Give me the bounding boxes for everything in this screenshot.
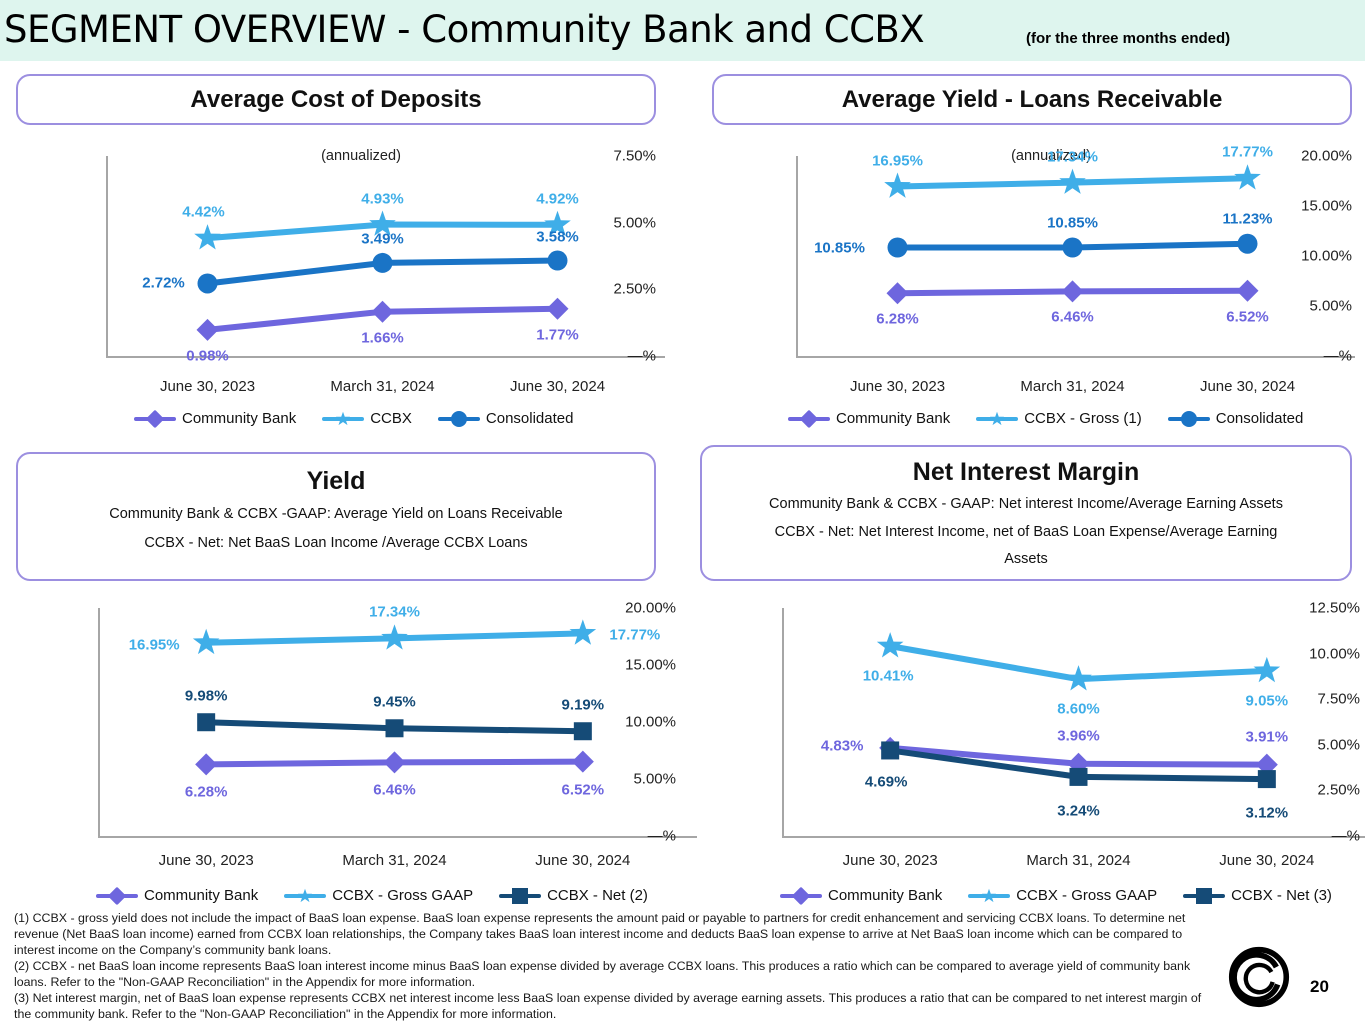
data-label: 16.95% bbox=[872, 152, 923, 169]
legend-marker bbox=[499, 888, 541, 904]
page-number: 20 bbox=[1310, 977, 1329, 997]
series-layer bbox=[16, 590, 676, 910]
legend-marker bbox=[788, 411, 830, 427]
star-icon bbox=[981, 888, 997, 904]
legend-label: Consolidated bbox=[1216, 410, 1304, 427]
card-title: Average Cost of Deposits bbox=[18, 76, 654, 123]
square-icon bbox=[1196, 888, 1212, 904]
legend-marker bbox=[1183, 888, 1225, 904]
footnotes: (1) CCBX - gross yield does not include … bbox=[14, 910, 1214, 1022]
legend-label: Community Bank bbox=[828, 887, 942, 904]
legend-label: Community Bank bbox=[182, 410, 296, 427]
legend-label: Community Bank bbox=[836, 410, 950, 427]
data-label: 1.66% bbox=[361, 329, 404, 346]
data-label: 10.85% bbox=[814, 239, 865, 256]
diamond-icon bbox=[108, 886, 127, 905]
company-logo-icon bbox=[1228, 946, 1290, 1008]
legend-label: Consolidated bbox=[486, 410, 574, 427]
legend-item[interactable]: CCBX - Gross GAAP bbox=[284, 887, 473, 904]
legend-item[interactable]: CCBX - Gross GAAP bbox=[968, 887, 1157, 904]
diamond-icon bbox=[146, 409, 165, 428]
star-icon bbox=[297, 888, 313, 904]
data-label: 16.95% bbox=[129, 636, 180, 653]
legend-item[interactable]: Community Bank bbox=[96, 887, 258, 904]
page-title: SEGMENT OVERVIEW - Community Bank and CC… bbox=[4, 8, 924, 51]
footnote-2: (2) CCBX - net BaaS loan income represen… bbox=[14, 958, 1214, 990]
card-average-yield-loans: Average Yield - Loans Receivable bbox=[712, 74, 1352, 125]
data-label: 4.92% bbox=[536, 190, 579, 207]
legend-item[interactable]: CCBX - Net (2) bbox=[499, 887, 648, 904]
series-layer bbox=[700, 590, 1360, 910]
legend-label: CCBX - Net (2) bbox=[547, 887, 648, 904]
legend-marker bbox=[322, 411, 364, 427]
card-average-cost-of-deposits: Average Cost of Deposits bbox=[16, 74, 656, 125]
card-subtitle-line1: Community Bank & CCBX -GAAP: Average Yie… bbox=[18, 504, 654, 525]
chart-legend: Community Bank CCBX Consolidated bbox=[134, 410, 573, 427]
data-label: 1.77% bbox=[536, 326, 579, 343]
square-icon bbox=[512, 888, 528, 904]
star-icon bbox=[335, 411, 351, 427]
card-title: Net Interest Margin bbox=[702, 458, 1350, 487]
chart-average-yield-loans-receivable: 20.00%15.00%10.00%5.00%—%(annualized)Jun… bbox=[706, 134, 1352, 434]
slide-header: SEGMENT OVERVIEW - Community Bank and CC… bbox=[0, 0, 1365, 61]
legend-marker bbox=[96, 888, 138, 904]
data-label: 2.72% bbox=[142, 275, 185, 292]
data-label: 9.98% bbox=[185, 688, 228, 705]
data-label: 4.69% bbox=[865, 774, 908, 791]
diamond-icon bbox=[800, 409, 819, 428]
data-label: 4.93% bbox=[361, 190, 404, 207]
data-label: 9.05% bbox=[1246, 692, 1289, 709]
data-label: 17.34% bbox=[1047, 148, 1098, 165]
legend-marker bbox=[968, 888, 1010, 904]
data-label: 6.28% bbox=[876, 311, 919, 328]
card-yield: Yield Community Bank & CCBX -GAAP: Avera… bbox=[16, 452, 656, 581]
data-label: 3.24% bbox=[1057, 802, 1100, 819]
card-net-interest-margin: Net Interest Margin Community Bank & CCB… bbox=[700, 445, 1352, 581]
legend-label: CCBX - Gross GAAP bbox=[332, 887, 473, 904]
data-label: 11.23% bbox=[1222, 210, 1272, 227]
data-label: 17.77% bbox=[1222, 144, 1273, 161]
legend-marker bbox=[1168, 411, 1210, 427]
series-layer bbox=[16, 134, 656, 434]
legend-item[interactable]: CCBX - Gross (1) bbox=[976, 410, 1142, 427]
legend-item[interactable]: Community Bank bbox=[788, 410, 950, 427]
card-subtitle-line1: Community Bank & CCBX - GAAP: Net intere… bbox=[702, 494, 1350, 515]
footnote-1: (1) CCBX - gross yield does not include … bbox=[14, 910, 1214, 958]
data-label: 4.42% bbox=[182, 204, 225, 221]
data-label: 8.60% bbox=[1057, 701, 1100, 718]
data-label: 3.96% bbox=[1057, 727, 1100, 744]
data-label: 17.77% bbox=[609, 627, 660, 644]
legend-marker bbox=[780, 888, 822, 904]
legend-label: CCBX - Gross GAAP bbox=[1016, 887, 1157, 904]
card-title: Average Yield - Loans Receivable bbox=[714, 76, 1350, 123]
legend-marker bbox=[284, 888, 326, 904]
legend-item[interactable]: Consolidated bbox=[1168, 410, 1304, 427]
data-label: 3.58% bbox=[536, 228, 579, 245]
data-label: 6.52% bbox=[562, 781, 605, 798]
legend-label: CCBX - Net (3) bbox=[1231, 887, 1332, 904]
data-label: 9.45% bbox=[373, 694, 416, 711]
legend-label: Community Bank bbox=[144, 887, 258, 904]
card-title: Yield bbox=[18, 467, 654, 496]
legend-label: CCBX bbox=[370, 410, 412, 427]
diamond-icon bbox=[792, 886, 811, 905]
circle-icon bbox=[451, 411, 467, 427]
legend-item[interactable]: Consolidated bbox=[438, 410, 574, 427]
series-layer bbox=[706, 134, 1352, 434]
data-label: 3.91% bbox=[1246, 728, 1289, 745]
legend-item[interactable]: Community Bank bbox=[780, 887, 942, 904]
chart-average-cost-of-deposits: 7.50%5.00%2.50%—%(annualized)June 30, 20… bbox=[16, 134, 656, 434]
card-subtitle-line3: Assets bbox=[702, 549, 1350, 570]
legend-label: CCBX - Gross (1) bbox=[1024, 410, 1142, 427]
star-icon bbox=[989, 411, 1005, 427]
data-label: 6.52% bbox=[1226, 308, 1269, 325]
chart-legend: Community Bank CCBX - Gross (1) Consolid… bbox=[788, 410, 1303, 427]
data-label: 6.28% bbox=[185, 784, 228, 801]
data-label: 17.34% bbox=[369, 604, 420, 621]
footnote-3: (3) Net interest margin, net of BaaS loa… bbox=[14, 990, 1214, 1022]
legend-marker bbox=[976, 411, 1018, 427]
legend-marker bbox=[134, 411, 176, 427]
legend-item[interactable]: CCBX bbox=[322, 410, 412, 427]
legend-item[interactable]: Community Bank bbox=[134, 410, 296, 427]
legend-marker bbox=[438, 411, 480, 427]
data-label: 10.41% bbox=[863, 668, 914, 685]
card-subtitle-line2: CCBX - Net: Net BaaS Loan Income /Averag… bbox=[18, 533, 654, 554]
data-label: 3.12% bbox=[1246, 805, 1289, 822]
data-label: 6.46% bbox=[373, 782, 416, 799]
chart-net-interest-margin: 12.50%10.00%7.50%5.00%2.50%—%June 30, 20… bbox=[700, 590, 1360, 910]
data-label: 10.85% bbox=[1047, 214, 1098, 231]
data-label: 9.19% bbox=[562, 697, 605, 714]
data-label: 6.46% bbox=[1051, 309, 1094, 326]
legend-item[interactable]: CCBX - Net (3) bbox=[1183, 887, 1332, 904]
chart-legend: Community Bank CCBX - Gross GAAP CCBX - … bbox=[780, 887, 1332, 904]
chart-legend: Community Bank CCBX - Gross GAAP CCBX - … bbox=[96, 887, 648, 904]
card-subtitle-line2: CCBX - Net: Net Interest Income, net of … bbox=[702, 522, 1350, 543]
data-label: 3.49% bbox=[361, 230, 404, 247]
page-subtitle: (for the three months ended) bbox=[1026, 30, 1230, 47]
circle-icon bbox=[1181, 411, 1197, 427]
data-label: 0.98% bbox=[186, 347, 229, 364]
chart-yield: 20.00%15.00%10.00%5.00%—%June 30, 2023Ma… bbox=[16, 590, 676, 910]
data-label: 4.83% bbox=[821, 737, 864, 754]
